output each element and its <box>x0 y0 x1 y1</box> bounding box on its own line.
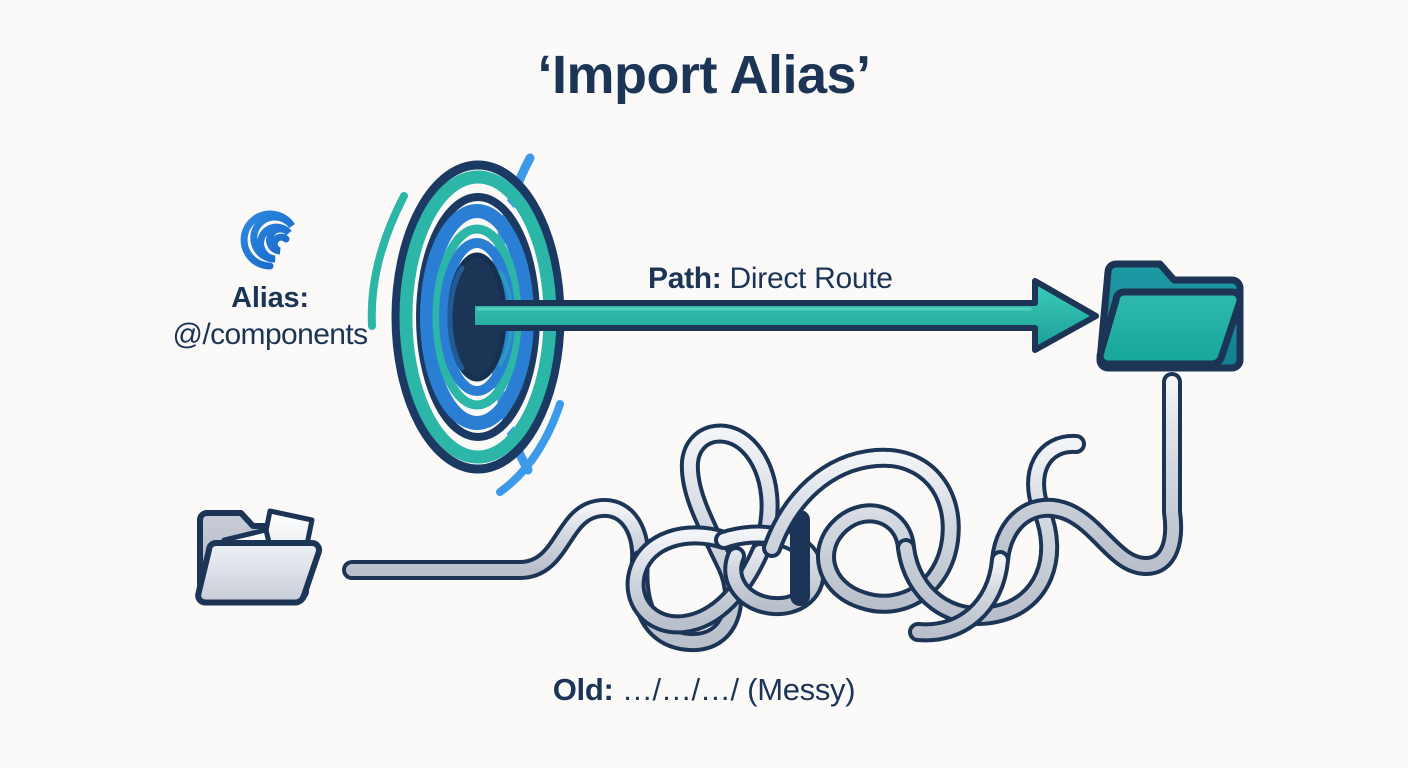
path-key: Path: <box>648 262 722 295</box>
path-value: Direct Route <box>722 262 893 295</box>
old-key: Old: <box>553 672 614 707</box>
teal-open-folder[interactable] <box>1100 264 1240 368</box>
old-value: …/…/…/ <box>614 672 739 707</box>
alias-key: Alias: <box>155 282 385 315</box>
diagram-canvas: ‘Import Alias’ Alias: @/components Path:… <box>0 0 1408 768</box>
alias-label-block: Alias: @/components <box>155 282 385 352</box>
old-label-block: Old: …/…/…/ (Messy) <box>0 672 1408 708</box>
page-title: ‘Import Alias’ <box>0 44 1408 106</box>
spiral-icon <box>244 214 292 266</box>
path-label-block: Path: Direct Route <box>648 262 893 296</box>
old-note: (Messy) <box>739 672 855 707</box>
alias-value: @/components <box>155 318 385 352</box>
grey-open-folder-with-documents[interactable] <box>198 511 319 603</box>
diagram-artwork <box>0 0 1408 768</box>
